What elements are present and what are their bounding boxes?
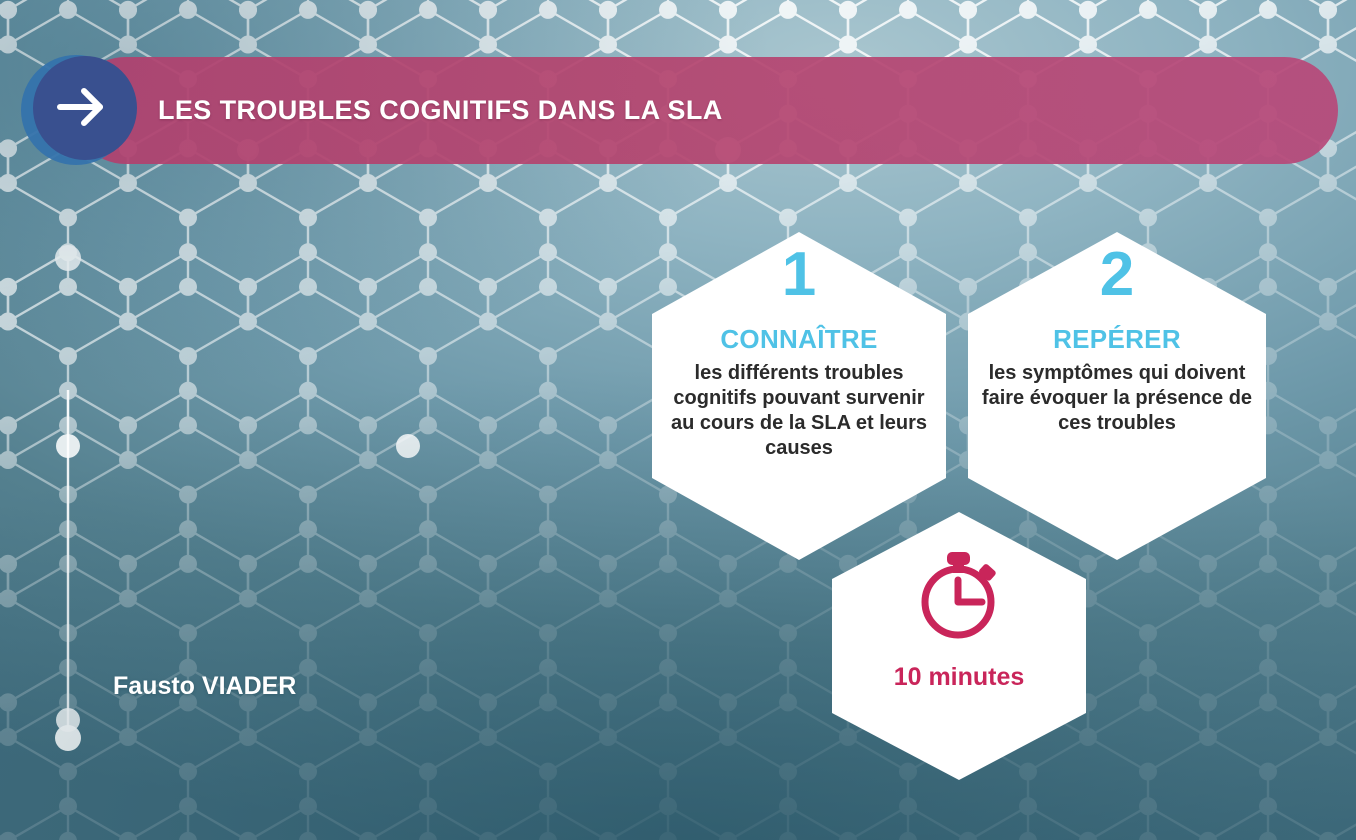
duration-card[interactable]: 10 minutes: [832, 512, 1086, 780]
objective-body-2: les symptômes qui doivent faire évoquer …: [974, 361, 1260, 436]
duration-label: 10 minutes: [832, 663, 1086, 692]
objective-body-1: les différents troubles cognitifs pouvan…: [664, 361, 934, 461]
objective-card-1[interactable]: 1 CONNAÎTRE les différents troubles cogn…: [652, 232, 946, 560]
pendant-node: [55, 390, 81, 751]
objective-number-2: 2: [968, 244, 1266, 306]
arrow-right-icon: [54, 79, 110, 135]
objective-heading-1: CONNAÎTRE: [664, 324, 934, 355]
arrow-badge: [21, 55, 131, 165]
presentation-slide: LES TROUBLES COGNITIFS DANS LA SLA 1 CON…: [0, 0, 1356, 840]
objective-number-1: 1: [652, 244, 946, 306]
page-title: LES TROUBLES COGNITIFS DANS LA SLA: [158, 57, 723, 164]
objective-card-2[interactable]: 2 REPÉRER les symptômes qui doivent fair…: [968, 232, 1266, 560]
author-name: Fausto VIADER: [113, 672, 296, 701]
objective-heading-2: REPÉRER: [974, 324, 1260, 355]
stopwatch-icon: [911, 540, 1007, 644]
